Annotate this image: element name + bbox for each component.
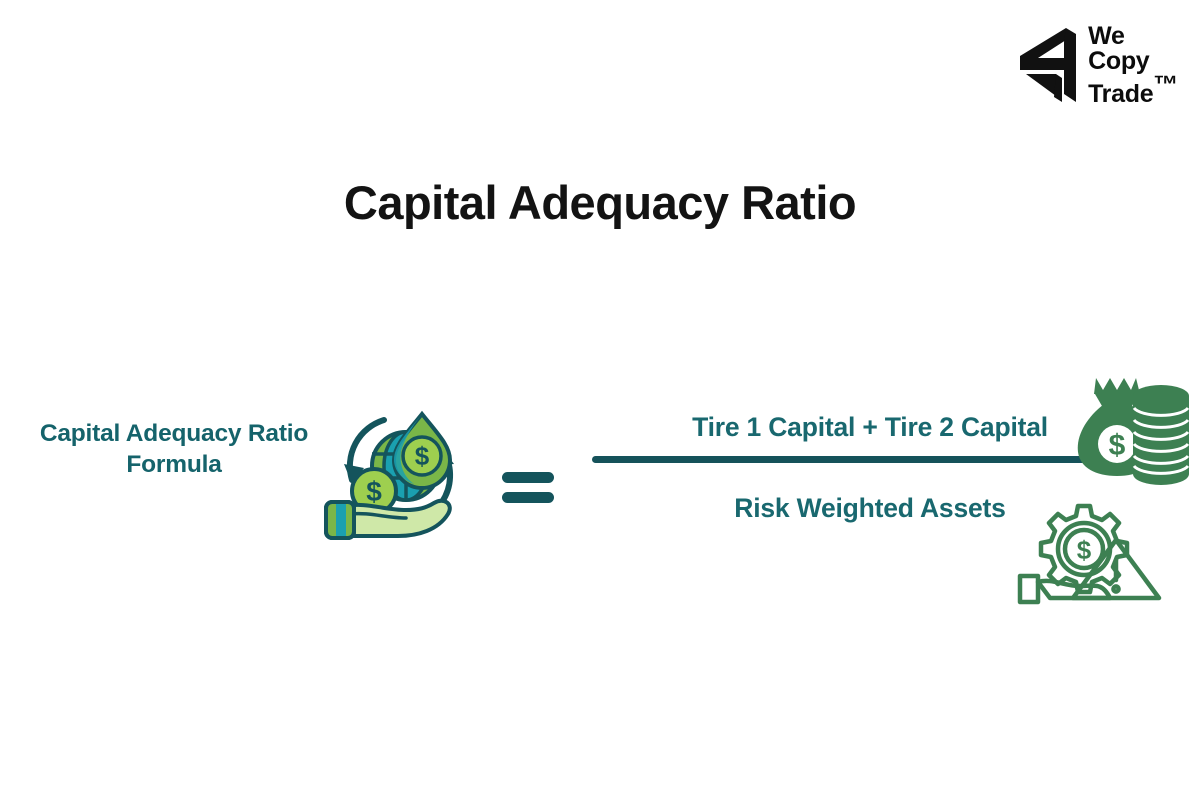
brand-wordmark: We Copy Trade™ [1088, 24, 1178, 107]
brand-line-3: Trade™ [1088, 73, 1178, 107]
svg-text:$: $ [1077, 535, 1092, 565]
equals-bar-bottom [502, 492, 554, 503]
svg-text:$: $ [415, 441, 430, 471]
brand-line-3-text: Trade [1088, 80, 1153, 108]
brand-logo: We Copy Trade™ [1016, 24, 1178, 107]
infographic-canvas: We Copy Trade™ Capital Adequacy Ratio Ca… [0, 0, 1200, 800]
money-bag-coins-icon: $ [1070, 370, 1190, 480]
numerator-text: Tire 1 Capital + Tire 2 Capital [592, 398, 1148, 456]
brand-line-1: We [1088, 24, 1178, 49]
fraction-bar [592, 456, 1145, 463]
risk-gear-warning-hand-icon: $ [1016, 498, 1166, 610]
brand-line-2: Copy [1088, 49, 1178, 74]
svg-text:$: $ [366, 476, 382, 507]
hand-holding-globe-money-icon: $ $ [322, 390, 472, 540]
equals-sign [502, 472, 554, 512]
arrow-chevron-logo-mark-icon [1016, 28, 1078, 102]
formula-block: Capital Adequacy Ratio Formula [0, 370, 1200, 620]
formula-left-label: Capital Adequacy Ratio Formula [4, 418, 344, 481]
svg-text:$: $ [1109, 429, 1126, 462]
page-title: Capital Adequacy Ratio [0, 175, 1200, 230]
trademark-symbol: ™ [1153, 71, 1178, 99]
equals-bar-top [502, 472, 554, 483]
